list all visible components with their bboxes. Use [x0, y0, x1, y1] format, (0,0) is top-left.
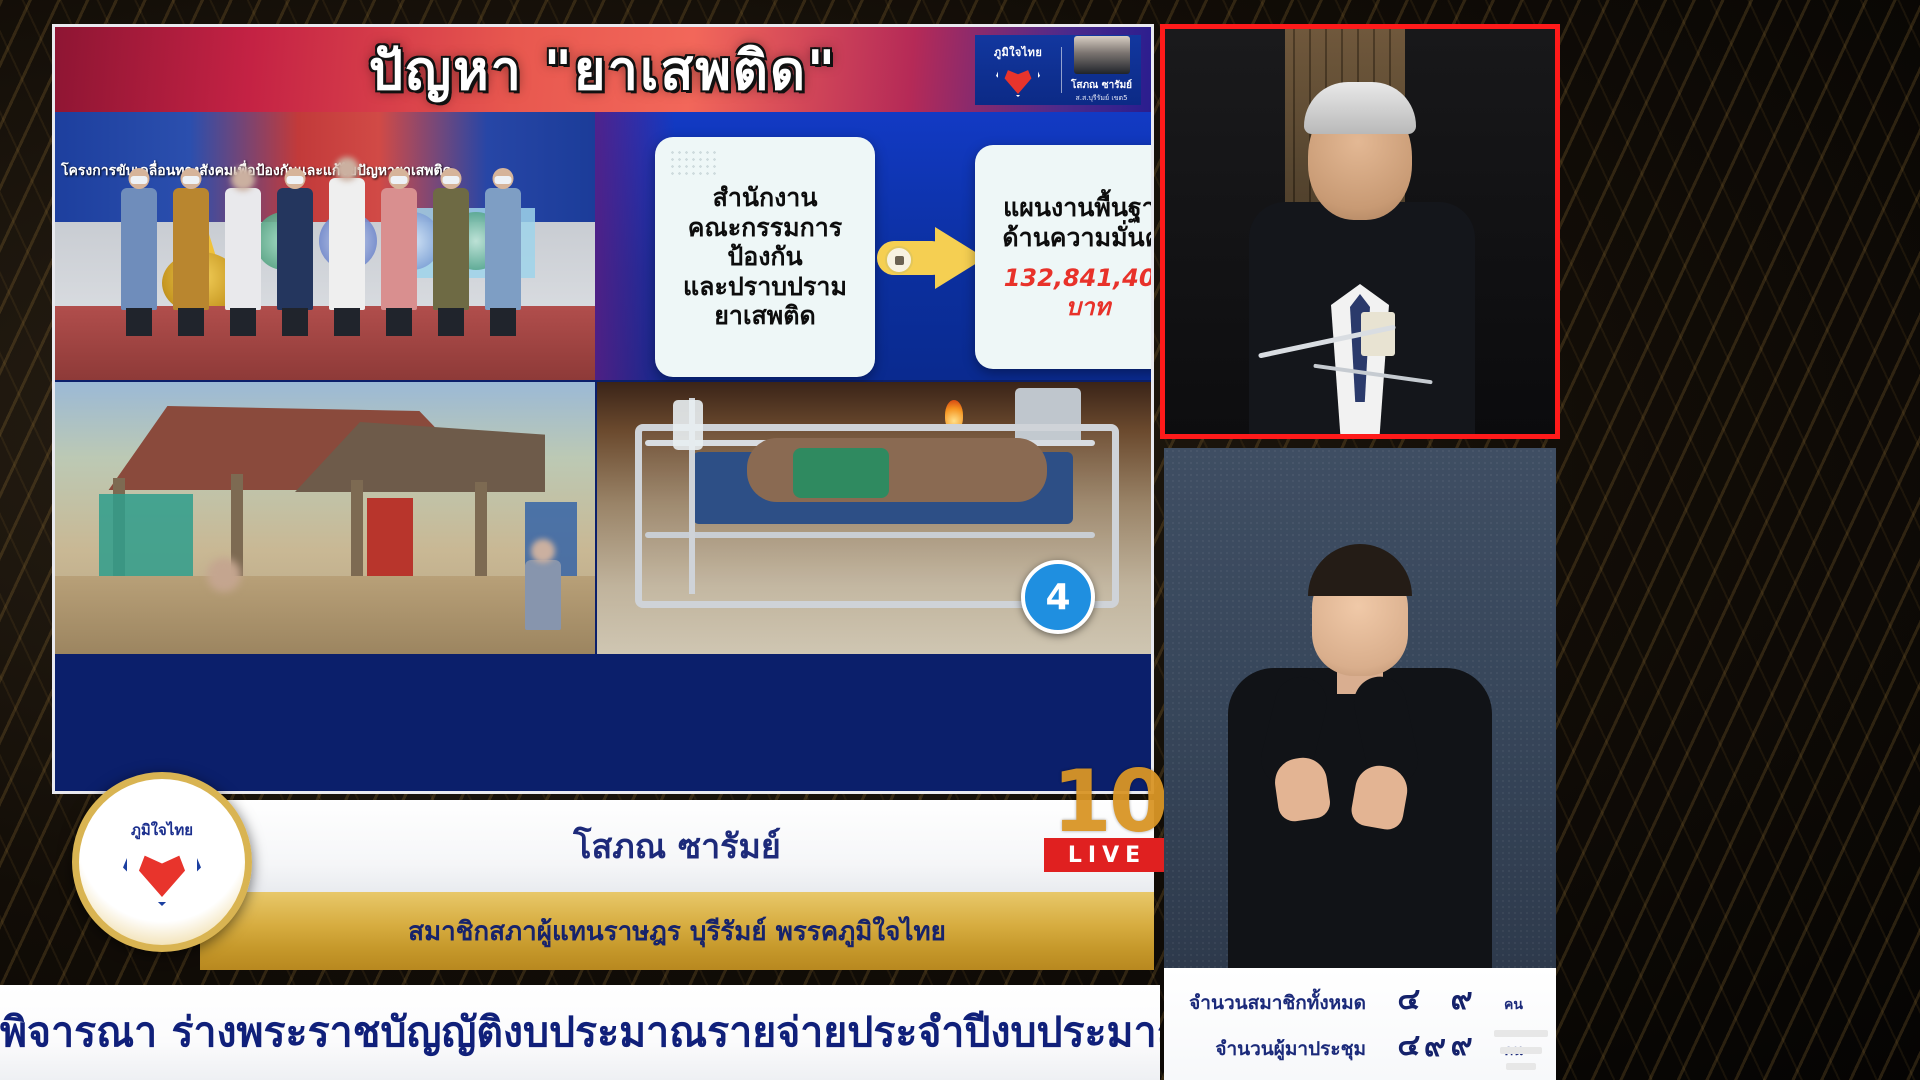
agency-card: สำนักงาน คณะกรรมการ ป้องกัน และปราบปราม …: [655, 137, 875, 377]
hamburger-menu-icon[interactable]: [1494, 1030, 1548, 1070]
corner-speaker-sub: ส.ส.บุรีรัมย์ เขต5: [1075, 93, 1127, 104]
attendance-label-present: จำนวนผู้มาประชุม: [1178, 1034, 1376, 1064]
attendance-label-total: จำนวนสมาชิกทั้งหมด: [1178, 988, 1376, 1018]
photo-hospital-bed: 4: [597, 382, 1154, 654]
attendance-panel: จำนวนสมาชิกทั้งหมด ๔ ๙ ๙ คน จำนวนผู้มาปร…: [1164, 968, 1556, 1080]
party-emblem-badge: ภูมิใจไทย: [72, 772, 252, 952]
camera-arrow-icon: [877, 227, 985, 289]
attendance-row: จำนวนผู้มาประชุม ๔ ๙ ๐ คน: [1178, 1022, 1542, 1068]
slide-page-number: 4: [1021, 560, 1095, 634]
budget-card: แผนงานพื้นฐาน ด้านความมั่นคง 132,841,400…: [975, 145, 1154, 369]
attendance-unit-total: คน: [1504, 994, 1523, 1016]
photo-ceremony: โครงการขับเคลื่อนทางสังคมเพื่อป้องกันและ…: [55, 112, 595, 380]
budget-amount: 132,841,400 บาท: [979, 264, 1154, 321]
photo-rural-house: [55, 382, 595, 654]
sign-language-interpreter-video[interactable]: [1164, 448, 1556, 968]
corner-party-label: ภูมิใจไทย: [994, 43, 1042, 61]
corner-speaker-name: โสภณ ซารัมย์: [1071, 78, 1132, 93]
agency-line-1: สำนักงาน: [713, 183, 818, 213]
news-ticker: รพิจารณา ร่างพระราชบัญญัติงบประมาณรายจ่า…: [0, 985, 1160, 1080]
attendance-row: จำนวนสมาชิกทั้งหมด ๔ ๙ ๙ คน: [1178, 976, 1542, 1022]
broadcast-screen: ปัญหา "ยาเสพติด" โครงการขับเคลื่อนทางสัง…: [0, 0, 1920, 1080]
speaker-role: สมาชิกสภาผู้แทนราษฎร บุรีรัมย์ พรรคภูมิใ…: [200, 892, 1154, 970]
live-badge: LIVE: [1044, 838, 1170, 872]
attendance-value-present: ๔ ๙ ๐: [1376, 1022, 1504, 1080]
party-emblem-label: ภูมิใจไทย: [131, 818, 193, 842]
parliament-speaker-video[interactable]: [1160, 24, 1560, 439]
speaker-name: โสภณ ซารัมย์: [200, 800, 1154, 892]
lower-third-nameplate: โสภณ ซารัมย์ สมาชิกสภาผู้แทนราษฎร บุรีรั…: [52, 800, 1154, 985]
bhumjaithai-heart-icon: [996, 63, 1040, 97]
slide-corner-badge: ภูมิใจไทย โสภณ ซารัมย์ ส.ส.บุรีรัมย์ เขต…: [975, 35, 1141, 105]
budget-line-2: ด้านความมั่นคง: [1002, 223, 1154, 253]
agency-line-2: คณะกรรมการ: [688, 213, 842, 243]
corner-speaker-photo: [1074, 36, 1130, 74]
agency-line-4: และปราบปราม: [683, 272, 847, 302]
presentation-slide: ปัญหา "ยาเสพติด" โครงการขับเคลื่อนทางสัง…: [52, 24, 1154, 794]
dot-grid-decoration: [669, 149, 717, 179]
bhumjaithai-heart-icon-large: [123, 844, 201, 906]
ticker-text: รพิจารณา ร่างพระราชบัญญัติงบประมาณรายจ่า…: [0, 1000, 1160, 1065]
budget-line-1: แผนงานพื้นฐาน: [1003, 193, 1154, 223]
agency-line-3: ป้องกัน: [727, 242, 802, 272]
agency-line-5: ยาเสพติด: [714, 301, 815, 331]
